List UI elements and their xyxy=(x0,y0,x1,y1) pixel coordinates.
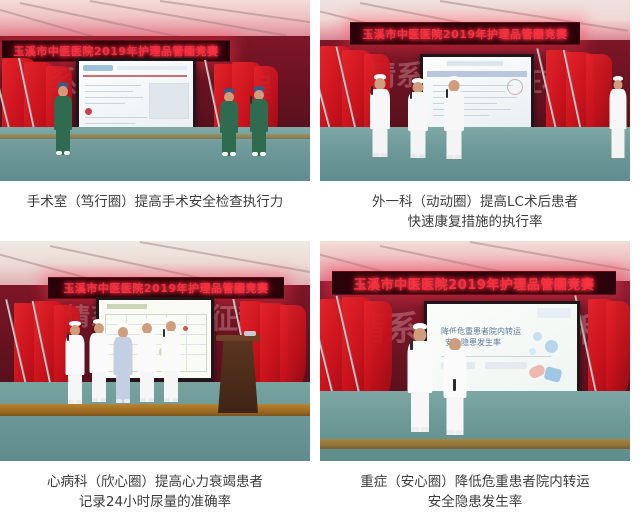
banner-text: 玉溪市中医医院2019年护理品管圈竞赛 xyxy=(13,43,218,59)
person-team-member xyxy=(406,78,430,160)
photo-panel-1[interactable]: 玉溪市中医医院2019年护理品管圈竞赛 情系 征程 xyxy=(0,0,310,181)
person-speaker xyxy=(248,86,270,158)
microphone-icon xyxy=(67,333,69,341)
hospital-logo xyxy=(537,308,571,318)
person-team-member xyxy=(442,333,468,437)
podium xyxy=(218,339,258,413)
person-speaker xyxy=(368,74,392,160)
person-team-member xyxy=(112,323,134,405)
microphone-icon xyxy=(453,379,456,391)
photo-gallery: 玉溪市中医医院2019年护理品管圈竞赛 情系 征程 xyxy=(0,0,640,521)
photo-caption-4: 重症（安心圈）降低危重患者院内转运 安全隐患发生率 xyxy=(320,461,630,521)
microphone-icon xyxy=(371,86,373,95)
event-banner: 玉溪市中医医院2019年护理品管圈竞赛 xyxy=(350,22,580,45)
slide xyxy=(423,57,531,129)
microphone-icon xyxy=(446,89,448,98)
person-team-member xyxy=(88,319,110,405)
floor xyxy=(320,391,630,461)
photo-caption-2: 外一科（动动圈）提高LC术后患者 快速康复措施的执行率 xyxy=(320,181,630,241)
photo-caption-3: 心病科（欣心圈）提高心力衰竭患者 记录24小时尿量的准确率 xyxy=(0,461,310,521)
banner-text: 玉溪市中医医院2019年护理品管圈竞赛 xyxy=(354,274,595,293)
microphone-icon xyxy=(410,339,413,350)
photo-caption-1: 手术室（笃行圈）提高手术安全检查执行力 xyxy=(0,181,310,221)
photo-panel-2[interactable]: 玉溪市中医医院2019年护理品管圈竞赛 情系 征程 xyxy=(320,0,630,181)
person-presenter xyxy=(52,82,74,158)
person-speaker xyxy=(406,323,434,435)
event-banner: 玉溪市中医医院2019年护理品管圈竞赛 xyxy=(48,277,284,299)
person-speaker xyxy=(64,321,86,407)
person-staff xyxy=(608,76,628,160)
gallery-cell-4: 玉溪市中医医院2019年护理品管圈竞赛 情系 征程 降低危重患者院内转运 安全隐… xyxy=(320,241,630,521)
person-team-member xyxy=(442,76,466,160)
floor xyxy=(320,127,630,181)
projection-screen xyxy=(420,54,534,132)
person-speaker xyxy=(160,317,182,405)
person-team-member xyxy=(218,88,240,158)
photo-panel-4[interactable]: 玉溪市中医医院2019年护理品管圈竞赛 情系 征程 降低危重患者院内转运 安全隐… xyxy=(320,241,630,461)
banner-text: 玉溪市中医医院2019年护理品管圈竞赛 xyxy=(362,26,567,42)
gallery-cell-1: 玉溪市中医医院2019年护理品管圈竞赛 情系 征程 xyxy=(0,0,310,241)
slide xyxy=(79,61,193,137)
photo-panel-3[interactable]: 玉溪市中医医院2019年护理品管圈竞赛 情系 征程 xyxy=(0,241,310,461)
microphone-icon xyxy=(163,329,165,337)
microphone-icon xyxy=(410,90,412,99)
laptop-icon xyxy=(244,331,256,336)
gallery-cell-2: 玉溪市中医医院2019年护理品管圈竞赛 情系 征程 xyxy=(320,0,630,241)
event-banner: 玉溪市中医医院2019年护理品管圈竞赛 xyxy=(332,271,616,295)
gallery-cell-3: 玉溪市中医医院2019年护理品管圈竞赛 情系 征程 xyxy=(0,241,310,521)
microphone-icon xyxy=(250,96,252,104)
banner-text: 玉溪市中医医院2019年护理品管圈竞赛 xyxy=(63,280,268,296)
person-team-member xyxy=(136,319,158,405)
